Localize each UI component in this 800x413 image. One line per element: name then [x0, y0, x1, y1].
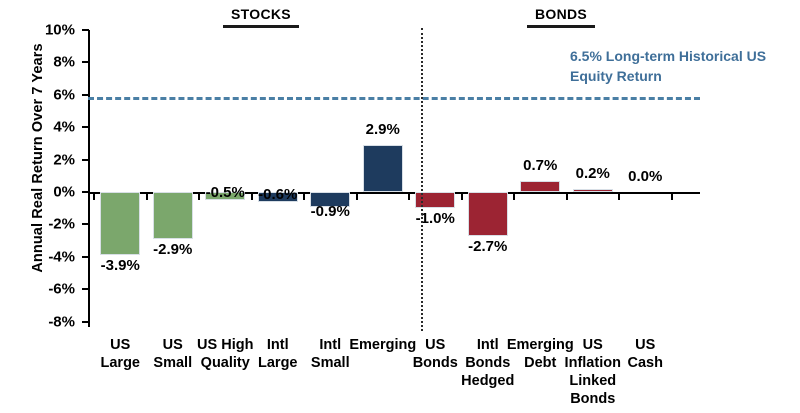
x-axis-tick: [408, 192, 410, 200]
x-axis-tick: [146, 192, 148, 200]
bar[interactable]: [363, 145, 403, 192]
bar-value-label: -0.5%: [206, 184, 245, 201]
x-axis-tick: [93, 192, 95, 200]
y-axis-tick: [82, 223, 89, 225]
bar[interactable]: [520, 181, 560, 192]
chart-root: Annual Real Return Over 7 Years 10%8%6%4…: [0, 0, 800, 413]
x-axis-tick: [513, 192, 515, 200]
y-axis-label: -4%: [48, 248, 75, 265]
bar-value-label: -0.9%: [311, 203, 350, 220]
x-axis-category-label: US Inflation Linked Bonds: [565, 336, 621, 408]
section-header-stocks-label: STOCKS: [201, 6, 321, 22]
y-axis-tick: [82, 61, 89, 63]
reference-annotation-line-1: 6.5% Long-term Historical US: [570, 46, 795, 66]
y-axis-tick: [82, 159, 89, 161]
bar-value-label: 0.0%: [628, 168, 662, 185]
section-header-bonds-rule: [527, 25, 595, 28]
bar[interactable]: [468, 192, 508, 236]
bar-value-label: 0.2%: [576, 165, 610, 182]
section-header-bonds: BONDS: [501, 6, 621, 28]
x-axis-category-label: US Cash: [628, 336, 663, 372]
reference-annotation-line-2: Equity Return: [570, 66, 795, 86]
y-axis-tick: [82, 29, 89, 31]
y-axis-label: 0%: [53, 184, 75, 201]
x-axis-tick: [303, 192, 305, 200]
y-axis-label: 2%: [53, 151, 75, 168]
y-axis-label: 10%: [45, 22, 75, 39]
x-axis-category-label: US High Quality: [197, 336, 253, 372]
y-axis-tick: [82, 126, 89, 128]
y-axis-label: -2%: [48, 216, 75, 233]
stocks-bonds-divider: [421, 28, 423, 331]
x-axis-category-label: Emerging: [349, 336, 416, 354]
x-axis-tick: [566, 192, 568, 200]
y-axis-label: -8%: [48, 313, 75, 330]
x-axis-category-label: US Large: [101, 336, 141, 372]
reference-line: [88, 97, 700, 100]
bar-value-label: -2.7%: [468, 238, 507, 255]
y-axis-tick: [82, 321, 89, 323]
y-axis-tick: [82, 256, 89, 258]
bar[interactable]: [573, 189, 613, 192]
y-axis-label: 6%: [53, 86, 75, 103]
section-header-stocks-rule: [223, 25, 299, 28]
section-header-bonds-label: BONDS: [501, 6, 621, 22]
x-axis-tick: [251, 192, 253, 200]
reference-annotation: 6.5% Long-term Historical US Equity Retu…: [570, 46, 795, 86]
x-axis-tick: [356, 192, 358, 200]
bar-value-label: -2.9%: [153, 241, 192, 258]
x-axis-category-label: Intl Small: [311, 336, 350, 372]
bar-value-label: -3.9%: [101, 257, 140, 274]
section-header-stocks: STOCKS: [201, 6, 321, 28]
x-axis-tick: [618, 192, 620, 200]
bar-value-label: -0.6%: [258, 186, 297, 203]
y-axis-tick: [82, 191, 89, 193]
x-axis-tick: [198, 192, 200, 200]
x-axis-category-label: US Small: [153, 336, 192, 372]
x-axis-category-label: US Bonds: [413, 336, 458, 372]
y-axis-tick: [82, 94, 89, 96]
y-axis-tick: [82, 288, 89, 290]
bar[interactable]: [100, 192, 140, 255]
x-axis-tick: [671, 192, 673, 200]
bar[interactable]: [153, 192, 193, 239]
y-axis-label: -6%: [48, 281, 75, 298]
bar-value-label: 2.9%: [366, 121, 400, 138]
bar-value-label: 0.7%: [523, 157, 557, 174]
y-axis-line: [88, 30, 90, 327]
y-axis-title: Annual Real Return Over 7 Years: [30, 0, 46, 318]
x-axis-tick: [461, 192, 463, 200]
y-axis-label: 4%: [53, 119, 75, 136]
x-axis-category-label: Intl Large: [258, 336, 298, 372]
y-axis-label: 8%: [53, 54, 75, 71]
